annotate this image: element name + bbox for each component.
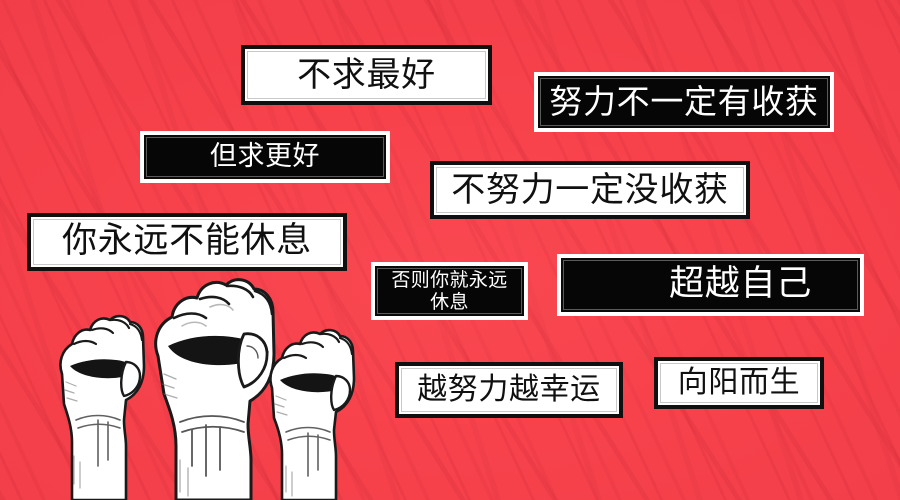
slogan-text-9: 向阳而生 — [678, 365, 800, 400]
slogan-box-4[interactable]: 不努力一定没收获 — [430, 161, 750, 219]
slogan-box-1[interactable]: 不求最好 — [241, 45, 492, 105]
slogan-text-3: 但求更好 — [210, 141, 320, 173]
slogan-text-5: 你永远不能休息 — [62, 221, 312, 262]
slogan-box-3[interactable]: 但求更好 — [140, 131, 390, 183]
slogan-text-7: 超越自己 — [669, 264, 812, 305]
slogan-box-7[interactable]: 超越自己 — [557, 254, 864, 316]
slogan-box-9[interactable]: 向阳而生 — [654, 357, 824, 409]
slogan-box-5[interactable]: 你永远不能休息 — [27, 213, 347, 271]
slogan-box-6[interactable]: 否则你就永远 休息 — [371, 262, 528, 320]
slogan-text-2: 努力不一定有收获 — [549, 83, 818, 122]
slogan-text-1: 不求最好 — [297, 55, 436, 95]
poster-canvas: 不求最好 努力不一定有收获 但求更好 不努力一定没收获 你永远不能休息 否则你就… — [0, 0, 900, 500]
slogan-text-4: 不努力一定没收获 — [451, 170, 728, 210]
slogan-box-2[interactable]: 努力不一定有收获 — [534, 72, 834, 132]
slogan-text-8: 越努力越幸运 — [417, 372, 601, 407]
slogan-text-6: 否则你就永远 休息 — [391, 269, 507, 314]
slogan-box-8[interactable]: 越努力越幸运 — [395, 362, 623, 418]
